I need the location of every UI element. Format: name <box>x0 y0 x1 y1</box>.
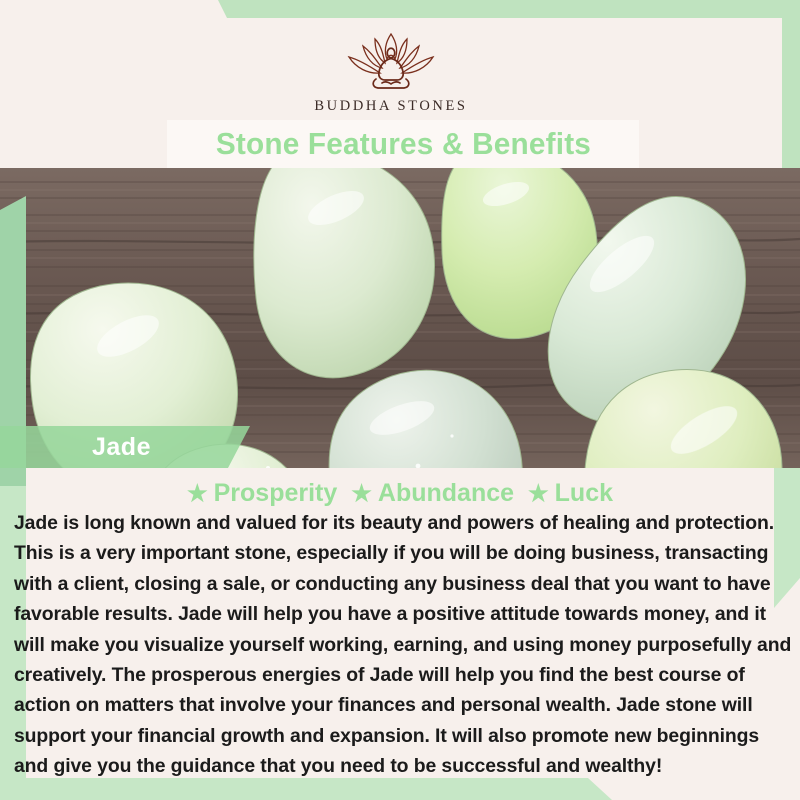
star-icon: ★ <box>187 482 208 505</box>
benefit-label: Prosperity <box>214 479 338 508</box>
stone-name: Jade <box>92 433 151 462</box>
page-title-banner: Stone Features & Benefits <box>167 120 639 168</box>
star-icon: ★ <box>351 482 372 505</box>
page-title: Stone Features & Benefits <box>215 126 590 162</box>
benefit-item-abundance: ★ Abundance <box>351 479 514 508</box>
brand-logo: BUDDHA STONES <box>0 18 782 115</box>
photo-graphic <box>0 168 800 468</box>
stone-description: Jade is long known and valued for its be… <box>14 508 794 782</box>
star-icon: ★ <box>528 482 549 505</box>
benefits-row: ★ Prosperity ★ Abundance ★ Luck <box>0 476 800 510</box>
benefit-label: Abundance <box>378 479 514 508</box>
stone-name-badge: Jade <box>0 426 250 468</box>
lotus-meditation-icon <box>339 30 443 92</box>
brand-name: BUDDHA STONES <box>314 98 467 115</box>
benefit-label: Luck <box>555 479 613 508</box>
benefit-item-luck: ★ Luck <box>528 479 613 508</box>
benefit-item-prosperity: ★ Prosperity <box>187 479 337 508</box>
jade-tumbled-stones-photo <box>0 168 800 468</box>
